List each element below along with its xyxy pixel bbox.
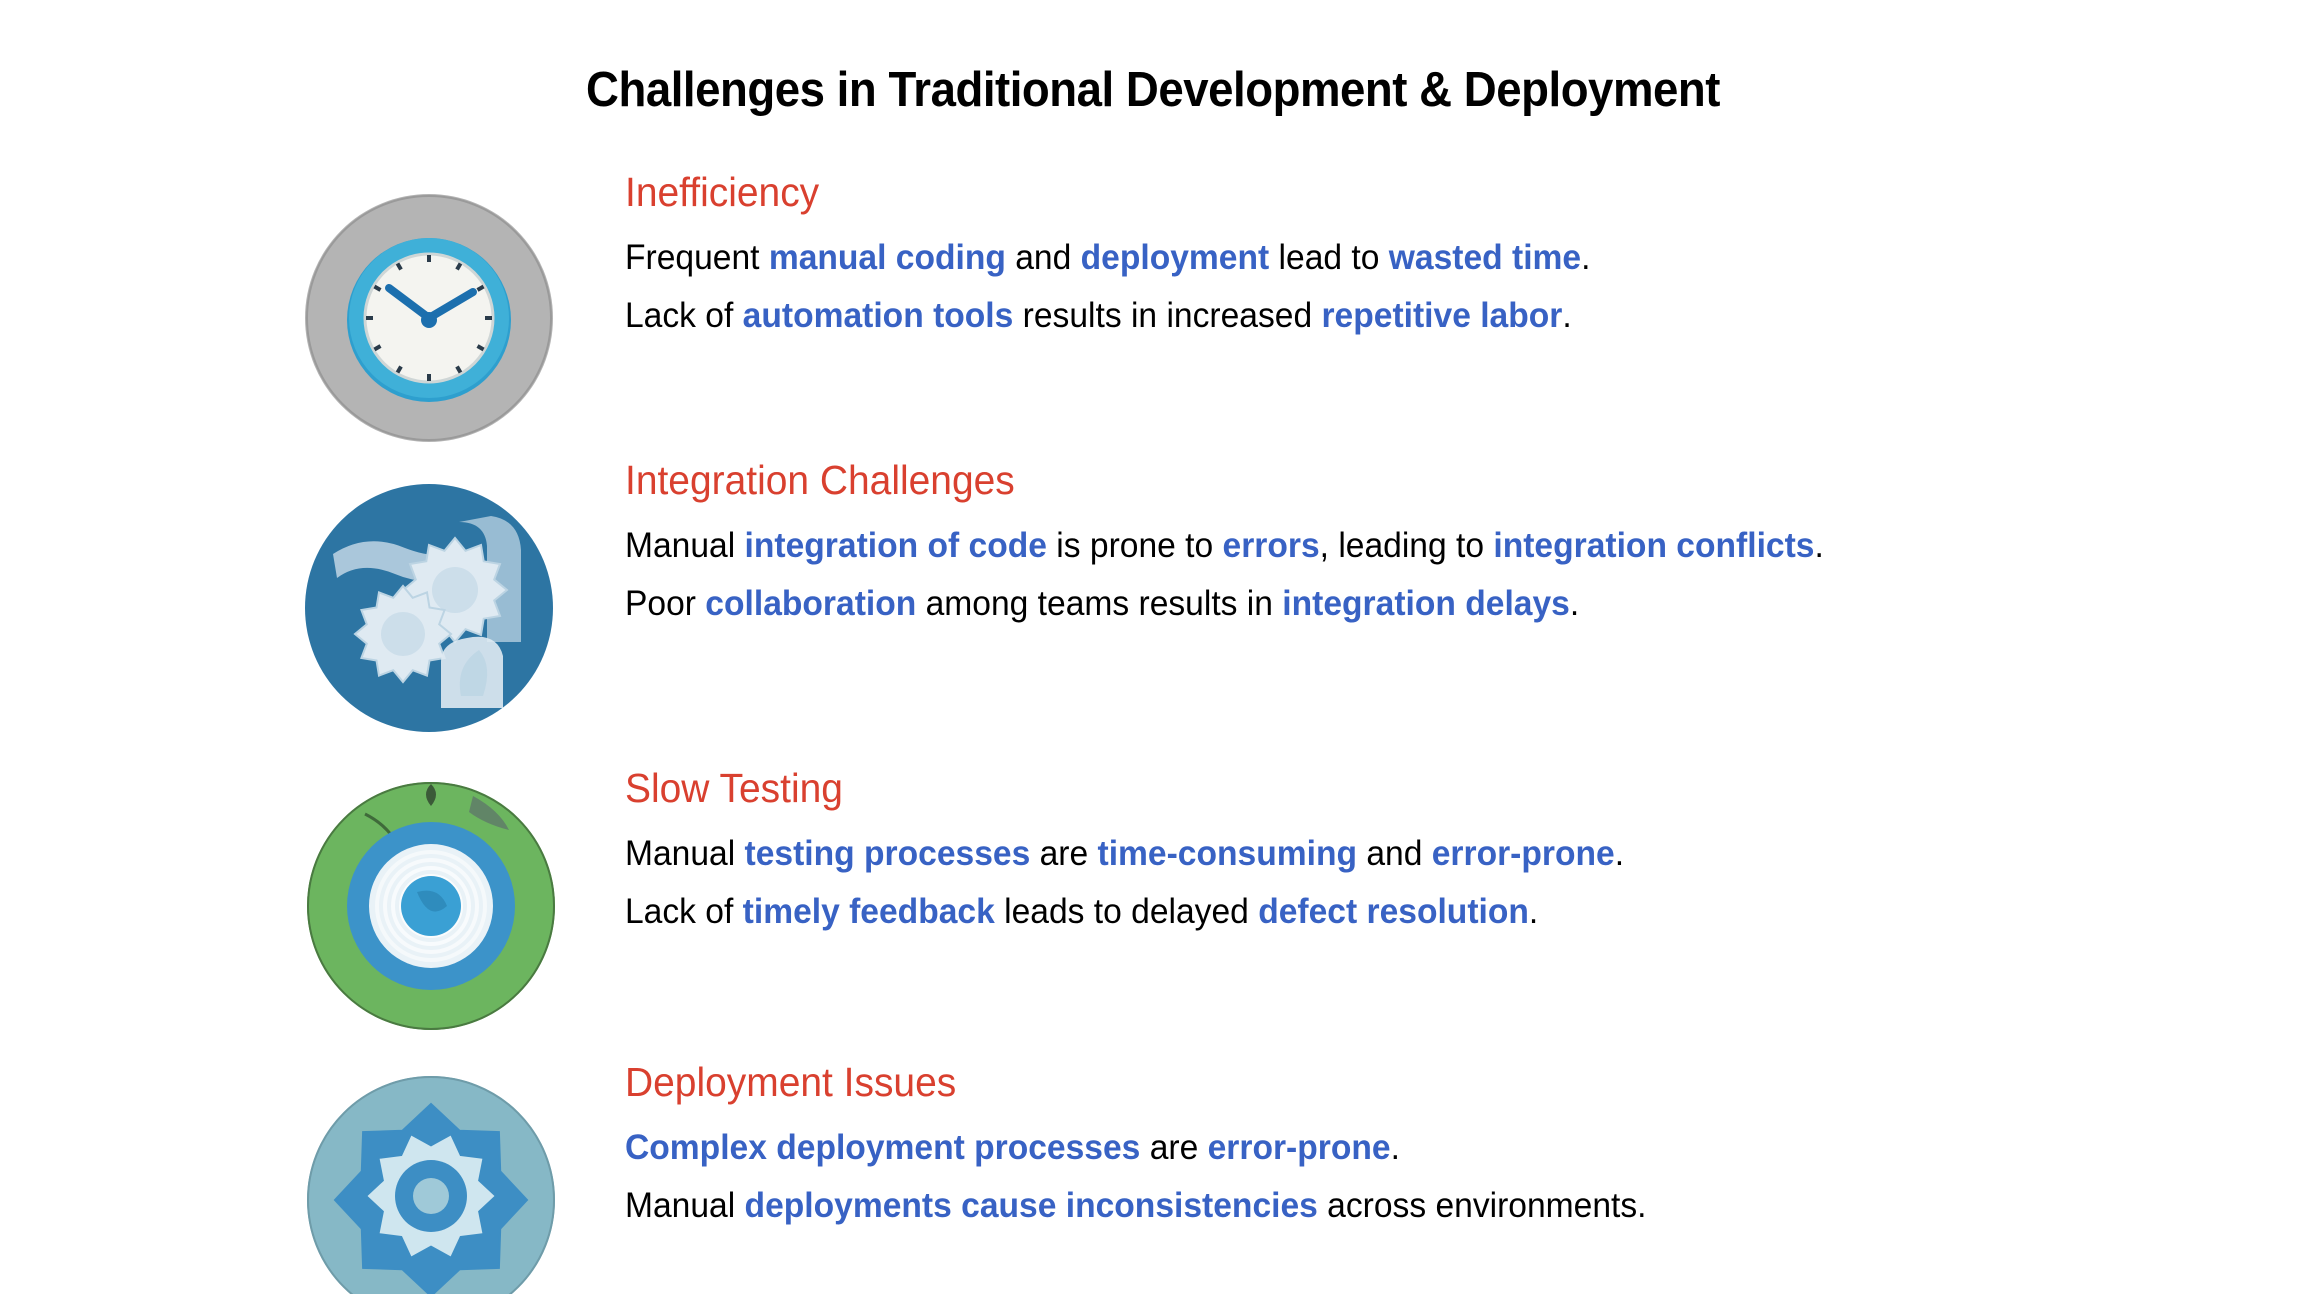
body-phrase: . <box>1529 892 1538 931</box>
body-phrase: . <box>1570 584 1579 623</box>
highlight-phrase: error-prone <box>1208 1128 1391 1167</box>
sections-list: InefficiencyFrequent manual coding and d… <box>0 170 2306 1294</box>
highlight-phrase: timely feedback <box>743 892 995 931</box>
section-body-line: Lack of automation tools results in incr… <box>625 293 2199 339</box>
body-phrase: among teams results in <box>916 584 1282 623</box>
body-phrase: Manual <box>625 1186 745 1225</box>
section-text-block: Integration ChallengesManual integration… <box>625 460 2265 639</box>
highlight-phrase: defect resolution <box>1258 892 1529 931</box>
section-body-line: Lack of timely feedback leads to delayed… <box>625 889 2199 935</box>
body-phrase: leads to delayed <box>995 892 1258 931</box>
gear-settings-icon <box>305 1074 557 1294</box>
body-phrase: Manual <box>625 834 745 873</box>
section-row: InefficiencyFrequent manual coding and d… <box>0 170 2306 460</box>
target-swirl-icon <box>305 780 557 1032</box>
section-row: Deployment IssuesComplex deployment proc… <box>0 1040 2306 1294</box>
body-phrase: Frequent <box>625 238 769 277</box>
section-body-line: Frequent manual coding and deployment le… <box>625 235 2199 281</box>
body-phrase: across environments. <box>1318 1186 1647 1225</box>
body-phrase: are <box>1030 834 1097 873</box>
slide-canvas: Challenges in Traditional Development & … <box>0 0 2306 1294</box>
section-body-line: Manual integration of code is prone to e… <box>625 523 2199 569</box>
body-phrase: and <box>1357 834 1432 873</box>
clock-icon <box>303 192 555 444</box>
body-phrase: Lack of <box>625 296 743 335</box>
section-body-line: Complex deployment processes are error-p… <box>625 1125 2199 1171</box>
highlight-phrase: testing processes <box>745 834 1031 873</box>
section-heading: Slow Testing <box>625 768 2183 809</box>
body-phrase: lead to <box>1269 238 1389 277</box>
highlight-phrase: manual coding <box>769 238 1006 277</box>
section-text-block: Deployment IssuesComplex deployment proc… <box>625 1062 2265 1241</box>
body-phrase: results in increased <box>1013 296 1321 335</box>
body-phrase: Manual <box>625 526 745 565</box>
section-row: Slow TestingManual testing processes are… <box>0 750 2306 1040</box>
section-text-block: Slow TestingManual testing processes are… <box>625 768 2265 947</box>
section-text-block: InefficiencyFrequent manual coding and d… <box>625 172 2265 351</box>
section-heading: Integration Challenges <box>625 460 2183 501</box>
section-heading: Inefficiency <box>625 172 2183 213</box>
body-phrase: Poor <box>625 584 705 623</box>
highlight-phrase: wasted time <box>1389 238 1581 277</box>
body-phrase: Lack of <box>625 892 743 931</box>
page-title: Challenges in Traditional Development & … <box>81 62 2226 118</box>
body-phrase: . <box>1562 296 1571 335</box>
highlight-phrase: integration of code <box>745 526 1047 565</box>
gears-icon <box>303 482 555 734</box>
highlight-phrase: error-prone <box>1432 834 1615 873</box>
highlight-phrase: integration conflicts <box>1493 526 1814 565</box>
highlight-phrase: integration delays <box>1282 584 1570 623</box>
highlight-phrase: errors <box>1223 526 1320 565</box>
section-body-line: Poor collaboration among teams results i… <box>625 581 2199 627</box>
highlight-phrase: collaboration <box>705 584 916 623</box>
body-phrase: . <box>1615 834 1624 873</box>
highlight-phrase: automation tools <box>743 296 1014 335</box>
highlight-phrase: repetitive labor <box>1321 296 1562 335</box>
body-phrase: , leading to <box>1320 526 1494 565</box>
highlight-phrase: time-consuming <box>1098 834 1357 873</box>
highlight-phrase: deployment <box>1081 238 1270 277</box>
highlight-phrase: Complex deployment processes <box>625 1128 1140 1167</box>
body-phrase: . <box>1391 1128 1400 1167</box>
body-phrase: . <box>1581 238 1590 277</box>
section-row: Integration ChallengesManual integration… <box>0 460 2306 750</box>
highlight-phrase: deployments cause inconsistencies <box>745 1186 1318 1225</box>
section-body-line: Manual deployments cause inconsistencies… <box>625 1183 2199 1229</box>
section-body-line: Manual testing processes are time-consum… <box>625 831 2199 877</box>
section-heading: Deployment Issues <box>625 1062 2183 1103</box>
body-phrase: is prone to <box>1047 526 1223 565</box>
body-phrase: and <box>1006 238 1081 277</box>
body-phrase: are <box>1140 1128 1207 1167</box>
body-phrase: . <box>1814 526 1823 565</box>
